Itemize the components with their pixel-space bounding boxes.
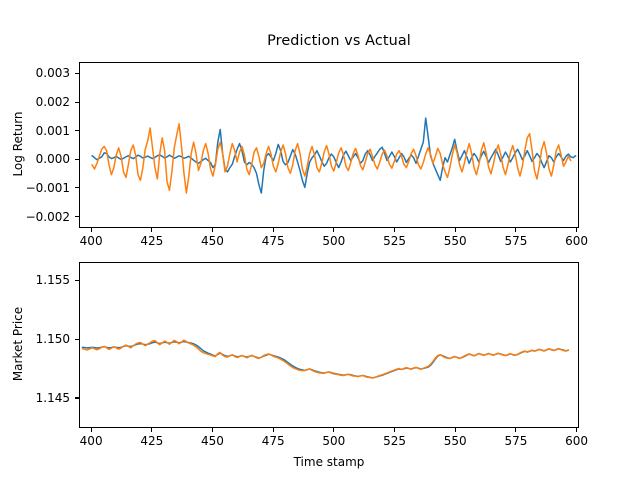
y-tick-mark	[75, 216, 79, 217]
x-tick-label: 600	[565, 435, 588, 447]
y-tick-label: −0.001	[0, 182, 70, 194]
y-tick-mark	[75, 187, 79, 188]
x-tick-label: 475	[262, 235, 285, 247]
x-tick-label: 575	[504, 235, 527, 247]
x-tick-mark	[394, 228, 395, 232]
x-tick-mark	[91, 428, 92, 432]
x-tick-mark	[333, 428, 334, 432]
chart-title: Prediction vs Actual	[0, 33, 640, 49]
x-tick-mark	[91, 228, 92, 232]
x-tick-label: 400	[80, 435, 103, 447]
x-tick-label: 600	[565, 235, 588, 247]
x-tick-label: 525	[383, 435, 406, 447]
x-tick-mark	[576, 428, 577, 432]
x-tick-mark	[151, 228, 152, 232]
x-tick-label: 500	[322, 435, 345, 447]
x-tick-mark	[151, 428, 152, 432]
x-tick-label: 550	[444, 435, 467, 447]
y-tick-mark	[75, 73, 79, 74]
x-tick-label: 525	[383, 235, 406, 247]
x-tick-mark	[515, 228, 516, 232]
y-tick-mark	[75, 102, 79, 103]
chart-title-text: Prediction vs Actual	[267, 33, 411, 49]
x-tick-label: 500	[322, 235, 345, 247]
x-tick-mark	[576, 228, 577, 232]
top-panel-y-axis-label: Log Return	[11, 61, 25, 227]
x-tick-label: 550	[444, 235, 467, 247]
y-tick-mark	[75, 280, 79, 281]
x-tick-label: 450	[201, 435, 224, 447]
x-tick-mark	[455, 228, 456, 232]
x-tick-mark	[212, 428, 213, 432]
log-return-series-canvas	[80, 63, 578, 227]
series-line-actual	[82, 340, 568, 378]
x-tick-mark	[515, 428, 516, 432]
matplotlib-figure: Prediction vs Actual Log Return 0.0030.0…	[0, 0, 640, 480]
x-tick-label: 575	[504, 435, 527, 447]
x-tick-label: 450	[201, 235, 224, 247]
x-tick-label: 425	[140, 235, 163, 247]
log-return-plot-area	[79, 62, 579, 228]
y-tick-label: 1.150	[0, 333, 70, 345]
x-tick-mark	[212, 228, 213, 232]
y-tick-mark	[75, 397, 79, 398]
y-tick-mark	[75, 130, 79, 131]
y-tick-mark	[75, 159, 79, 160]
y-tick-label: 1.145	[0, 392, 70, 404]
y-tick-mark	[75, 339, 79, 340]
x-tick-label: 400	[80, 235, 103, 247]
y-tick-label: 0.001	[0, 125, 70, 137]
x-tick-mark	[273, 228, 274, 232]
x-tick-mark	[333, 228, 334, 232]
x-tick-mark	[394, 428, 395, 432]
y-tick-label: −0.002	[0, 211, 70, 223]
x-tick-mark	[455, 428, 456, 432]
x-tick-label: 475	[262, 435, 285, 447]
x-tick-mark	[273, 428, 274, 432]
market-price-series-canvas	[80, 263, 578, 427]
market-price-plot-area	[79, 262, 579, 428]
y-tick-label: 0.003	[0, 67, 70, 79]
y-tick-label: 1.155	[0, 274, 70, 286]
x-tick-label: 425	[140, 435, 163, 447]
bottom-panel-x-axis-label: Time stamp	[294, 455, 365, 469]
y-tick-label: 0.002	[0, 96, 70, 108]
y-tick-label: 0.000	[0, 153, 70, 165]
